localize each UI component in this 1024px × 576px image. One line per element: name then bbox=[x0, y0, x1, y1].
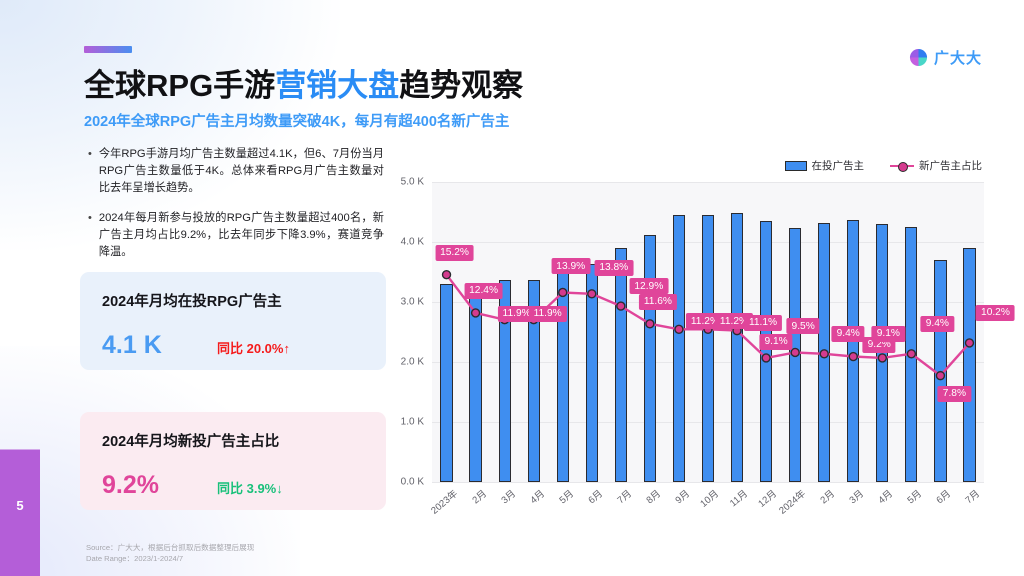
data-point-label: 11.9% bbox=[529, 306, 567, 322]
data-point-label: 9.1% bbox=[872, 326, 905, 342]
data-point-label: 12.9% bbox=[629, 278, 668, 294]
logo-text: 广大大 bbox=[934, 47, 982, 68]
data-point[interactable] bbox=[965, 339, 973, 347]
y-axis-tick-label: 5.0 K bbox=[401, 177, 424, 188]
data-point-label: 11.1% bbox=[744, 315, 782, 331]
pie-chart-icon bbox=[909, 48, 928, 67]
legend-item-line[interactable]: 新广告主占比 bbox=[890, 158, 982, 173]
footer-source: Source：广大大，根据后台抓取后数据整理后展现 bbox=[86, 542, 254, 553]
title-part1: 全球RPG手游 bbox=[84, 68, 275, 103]
page-rail: 5 bbox=[0, 0, 40, 576]
data-point-label: 9.4% bbox=[921, 316, 954, 332]
data-point[interactable] bbox=[878, 354, 886, 362]
stat-card-title: 2024年月均新投广告主占比 bbox=[102, 430, 364, 451]
stat-card-value: 9.2% bbox=[102, 471, 217, 500]
x-axis: 2023年2月3月4月5月6月7月8月9月10月11月12月2024年2月3月4… bbox=[432, 486, 984, 536]
data-point-label: 10.2% bbox=[976, 305, 1015, 321]
y-axis-tick-label: 4.0 K bbox=[401, 237, 424, 248]
data-point[interactable] bbox=[472, 309, 480, 317]
plot-area: 15.2%12.4%11.9%11.9%13.9%13.8%12.9%11.6%… bbox=[432, 182, 984, 482]
chart-legend: 在投广告主 新广告主占比 bbox=[785, 158, 983, 173]
gridline bbox=[432, 482, 984, 483]
stat-card-delta: 同比 3.9%↓ bbox=[217, 478, 283, 497]
data-point-label: 9.4% bbox=[832, 326, 865, 342]
data-point[interactable] bbox=[849, 353, 857, 361]
legend-label: 新广告主占比 bbox=[919, 158, 982, 173]
bullet-dot-icon: • bbox=[88, 210, 92, 261]
data-point[interactable] bbox=[617, 302, 625, 310]
page-subtitle: 2024年全球RPG广告主月均数量突破4K，每月有超400名新广告主 bbox=[84, 110, 509, 131]
brand-logo: 广大大 bbox=[909, 47, 982, 68]
data-point-label: 13.9% bbox=[551, 258, 590, 274]
data-point-label: 9.1% bbox=[759, 334, 792, 350]
legend-item-bars[interactable]: 在投广告主 bbox=[785, 158, 865, 173]
data-point-label: 7.8% bbox=[938, 386, 971, 402]
footer-note: Source：广大大，根据后台抓取后数据整理后展现 Date Range：202… bbox=[86, 542, 254, 564]
data-point-label: 11.6% bbox=[639, 294, 677, 310]
accent-bar bbox=[84, 46, 132, 53]
title-highlight: 营销大盘 bbox=[275, 68, 399, 103]
title-part2: 趋势观察 bbox=[399, 68, 523, 103]
data-point[interactable] bbox=[675, 325, 683, 333]
y-axis-tick-label: 2.0 K bbox=[401, 357, 424, 368]
slide: 5 全球RPG手游营销大盘趋势观察 2024年全球RPG广告主月均数量突破4K，… bbox=[0, 0, 1024, 576]
data-point[interactable] bbox=[559, 288, 567, 296]
data-point[interactable] bbox=[791, 348, 799, 356]
page-title: 全球RPG手游营销大盘趋势观察 bbox=[84, 60, 523, 105]
data-point[interactable] bbox=[588, 290, 596, 298]
data-point-label: 15.2% bbox=[435, 245, 474, 261]
stat-card-delta: 同比 20.0%↑ bbox=[217, 338, 290, 357]
list-item: • 2024年每月新参与投放的RPG广告主数量超过400名，新广告主月均占比9.… bbox=[88, 210, 384, 261]
data-point[interactable] bbox=[936, 372, 944, 380]
stat-card-value: 4.1 K bbox=[102, 331, 217, 360]
data-point-label: 12.4% bbox=[464, 283, 503, 299]
list-item: • 今年RPG手游月均广告主数量超过4.1K，但6、7月份当月RPG广告主数量低… bbox=[88, 146, 384, 197]
data-point-label: 13.8% bbox=[594, 260, 633, 276]
legend-line-swatch-icon bbox=[890, 161, 914, 171]
bullet-dot-icon: • bbox=[88, 146, 92, 197]
chart-container: 在投广告主 新广告主占比 0.0 K1.0 K2.0 K3.0 K4.0 K5.… bbox=[392, 150, 992, 540]
y-axis-tick-label: 3.0 K bbox=[401, 297, 424, 308]
bullet-text: 2024年每月新参与投放的RPG广告主数量超过400名，新广告主月均占比9.2%… bbox=[99, 210, 384, 261]
y-axis-tick-label: 0.0 K bbox=[401, 477, 424, 488]
data-point[interactable] bbox=[443, 271, 451, 279]
footer-date-range: Date Range：2023/1-2024/7 bbox=[86, 553, 254, 564]
legend-bar-swatch-icon bbox=[785, 161, 807, 171]
y-axis-tick-label: 1.0 K bbox=[401, 417, 424, 428]
data-point-label: 9.5% bbox=[787, 318, 820, 334]
bullet-text: 今年RPG手游月均广告主数量超过4.1K，但6、7月份当月RPG广告主数量低于4… bbox=[99, 146, 384, 197]
data-point[interactable] bbox=[762, 354, 770, 362]
data-point[interactable] bbox=[820, 350, 828, 358]
stat-card-advertisers: 2024年月均在投RPG广告主 4.1 K 同比 20.0%↑ bbox=[80, 272, 386, 370]
page-number: 5 bbox=[0, 498, 40, 513]
bullet-list: • 今年RPG手游月均广告主数量超过4.1K，但6、7月份当月RPG广告主数量低… bbox=[88, 146, 384, 274]
data-point[interactable] bbox=[907, 350, 915, 358]
data-point[interactable] bbox=[646, 320, 654, 328]
stat-card-new-share: 2024年月均新投广告主占比 9.2% 同比 3.9%↓ bbox=[80, 412, 386, 510]
legend-label: 在投广告主 bbox=[812, 158, 865, 173]
y-axis: 0.0 K1.0 K2.0 K3.0 K4.0 K5.0 K bbox=[392, 182, 430, 482]
stat-card-title: 2024年月均在投RPG广告主 bbox=[102, 290, 364, 311]
